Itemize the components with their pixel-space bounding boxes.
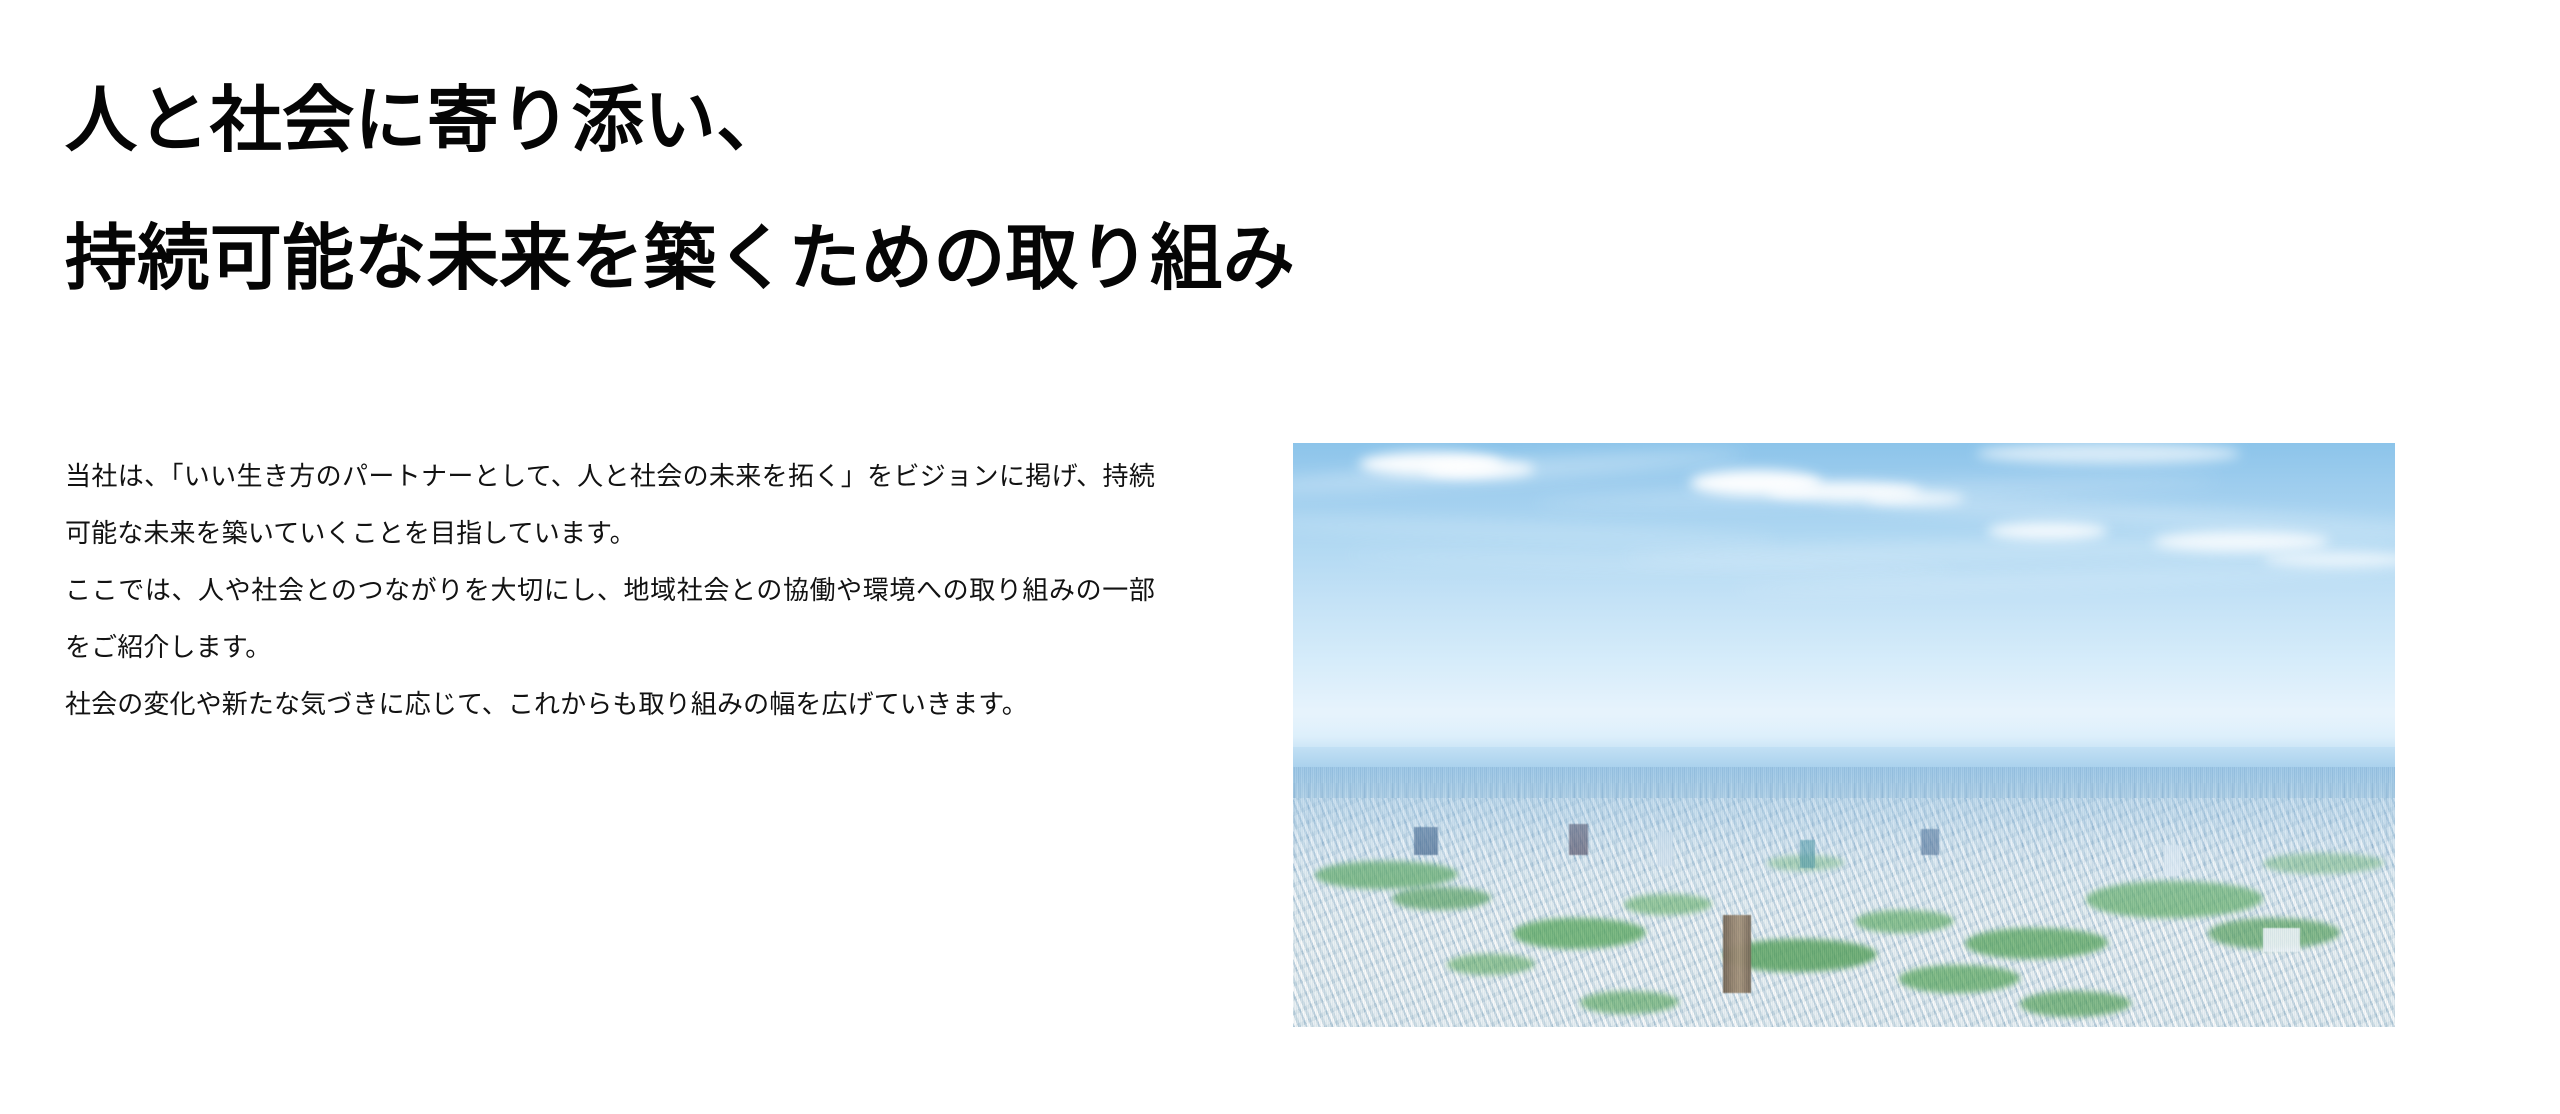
city-layer [1293, 767, 2395, 1027]
tree-cluster [1580, 991, 1679, 1014]
hero-image [1293, 443, 2395, 1027]
tree-cluster [2263, 853, 2384, 874]
cityscape-photo [1293, 443, 2395, 1027]
cumulus-cloud [2263, 552, 2395, 567]
intro-paragraph-3: 社会の変化や新たな気づきに応じて、これからも取り組みの幅を広げていきます。 [65, 676, 1155, 733]
cumulus-cloud [1976, 443, 2240, 464]
tree-cluster [2086, 881, 2262, 917]
sky-layer [1293, 443, 2395, 747]
intro-text-block: 当社は、「いい生き方のパートナーとして、人と社会の未来を拓く」をビジョンに掲げ、… [65, 448, 1155, 733]
landmark-tower [1723, 915, 1752, 993]
cumulus-cloud [1987, 522, 2108, 540]
tree-clusters [1293, 767, 2395, 1027]
tree-cluster [1855, 910, 1954, 933]
skyscraper [1800, 840, 1815, 869]
intro-paragraph-2: ここでは、人や社会とのつながりを大切にし、地域社会との協働や環境への取り組みの一… [65, 562, 1155, 676]
skyscraper [2263, 928, 2300, 951]
skyscraper [1921, 829, 1939, 855]
intro-paragraph-1: 当社は、「いい生き方のパートナーとして、人と社会の未来を拓く」をビジョンに掲げ、… [65, 448, 1155, 562]
tree-cluster [1899, 965, 2020, 994]
tree-cluster [1624, 894, 1712, 915]
page-title: 人と社会に寄り添い、 持続可能な未来を築くための取り組み [65, 52, 2065, 328]
page-root: 人と社会に寄り添い、 持続可能な未来を築くための取り組み 当社は、「いい生き方の… [0, 0, 2560, 1114]
skyscraper [1657, 832, 1674, 866]
page-title-line-2: 持続可能な未来を築くための取り組み [65, 190, 2065, 328]
skyscraper [1414, 827, 1438, 856]
page-title-line-1: 人と社会に寄り添い、 [65, 52, 2065, 190]
skyscraper [1569, 824, 1589, 855]
cumulus-cloud [1425, 460, 1535, 478]
tree-cluster [1315, 861, 1458, 890]
cirrus-cloud [1293, 515, 1778, 545]
tree-cluster [1965, 928, 2108, 959]
tree-cluster [2020, 991, 2130, 1017]
cumulus-cloud [1866, 492, 1965, 506]
tree-cluster [1447, 954, 1535, 975]
tree-cluster [1513, 918, 1645, 949]
skyscraper [2164, 845, 2182, 876]
tree-cluster [1392, 887, 1491, 910]
